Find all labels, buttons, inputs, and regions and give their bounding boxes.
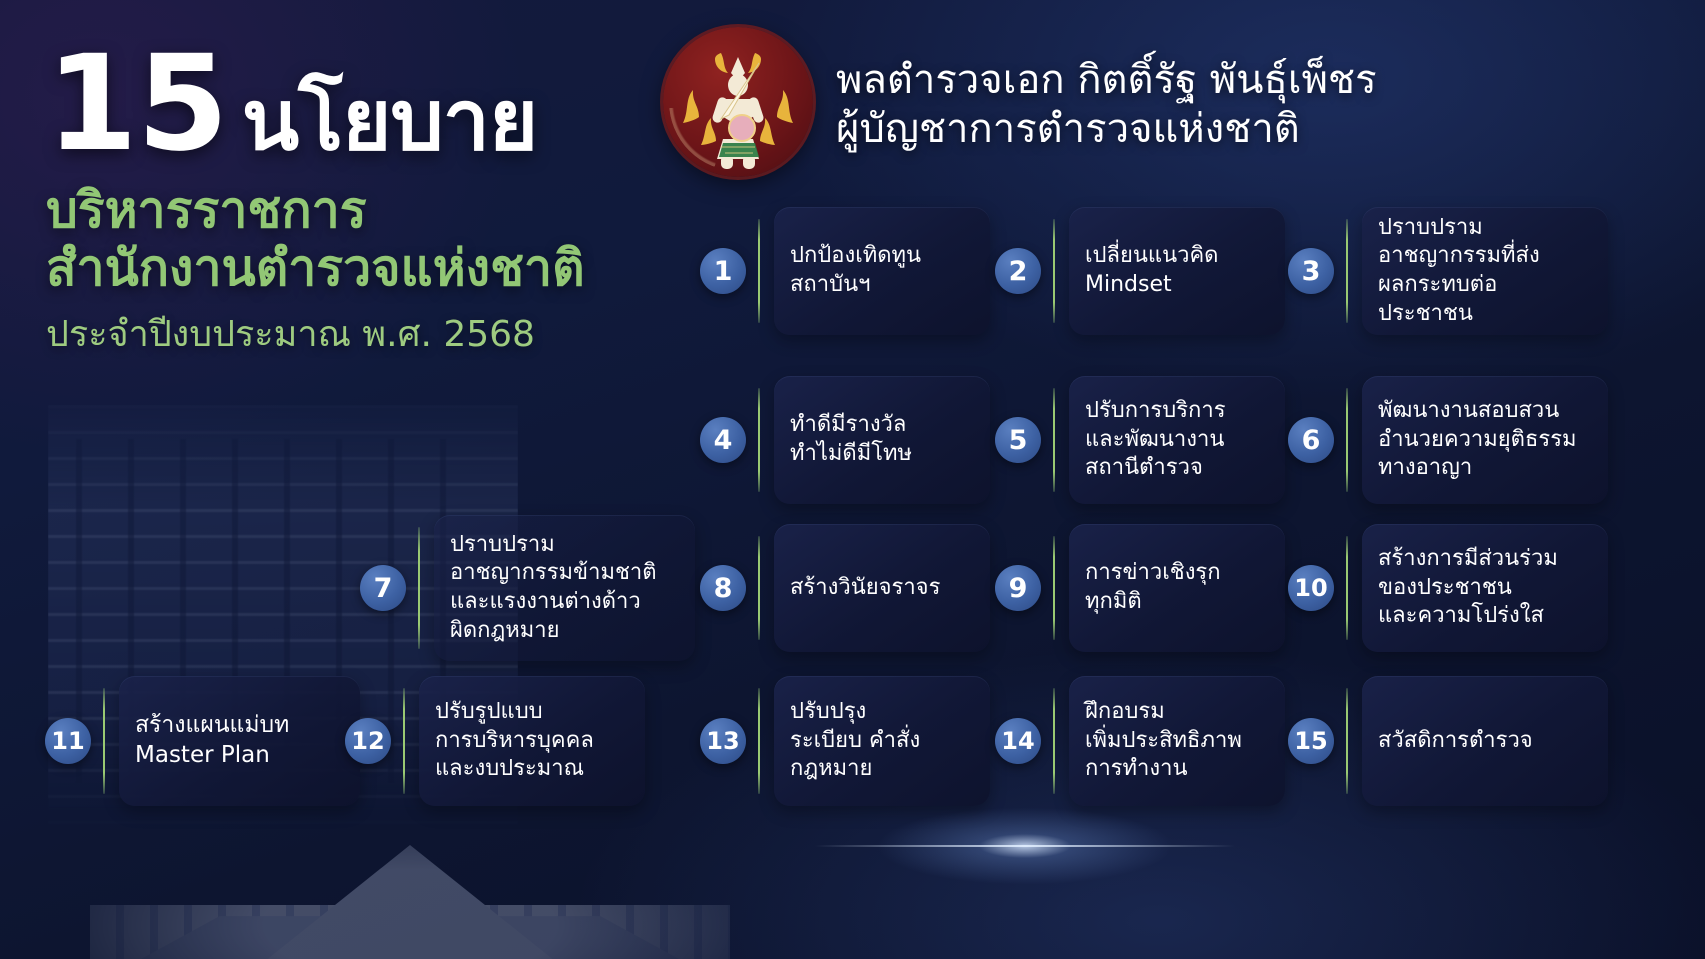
policy-item-7[interactable]: 7 ปราบปรามอาชญากรรมข้ามชาติและแรงงานต่าง…: [360, 527, 695, 649]
policy-number-badge: 9: [995, 565, 1041, 611]
policy-divider: [1053, 536, 1055, 640]
policy-count-word: นโยบาย: [242, 78, 537, 162]
policy-item-3[interactable]: 3 ปราบปรามอาชญากรรมที่ส่งผลกระทบต่อประชา…: [1288, 219, 1608, 323]
policy-card[interactable]: สวัสดิการตำรวจ: [1362, 676, 1608, 806]
policy-number-badge: 15: [1288, 718, 1334, 764]
policy-text: ปกป้องเทิดทูนสถาบันฯ: [790, 242, 921, 299]
policy-count-number: 15: [46, 42, 228, 167]
pavilion-base: [90, 905, 730, 959]
policy-text: สร้างแผนแม่บทMaster Plan: [135, 711, 289, 771]
policy-card[interactable]: ปราบปรามอาชญากรรมที่ส่งผลกระทบต่อประชาชน: [1362, 207, 1608, 335]
policy-item-12[interactable]: 12 ปรับรูปแบบการบริหารบุคคลและงบประมาณ: [345, 688, 645, 794]
policy-text: สวัสดิการตำรวจ: [1378, 727, 1533, 756]
policy-text: พัฒนางานสอบสวนอำนวยความยุติธรรมทางอาญา: [1378, 397, 1577, 483]
policy-divider: [418, 527, 420, 649]
policy-number-badge: 4: [700, 417, 746, 463]
policy-number-badge: 3: [1288, 248, 1334, 294]
headline-main: 15 นโยบาย: [46, 42, 666, 167]
policy-item-9[interactable]: 9 การข่าวเชิงรุกทุกมิติ: [995, 536, 1285, 640]
headline-subtitle-line2: สำนักงานตำรวจแห่งชาติ: [46, 239, 666, 297]
policy-item-15[interactable]: 15 สวัสดิการตำรวจ: [1288, 688, 1608, 794]
policy-divider: [1053, 219, 1055, 323]
policy-divider: [758, 688, 760, 794]
infographic-poster: 15 นโยบาย บริหารราชการ สำนักงานตำรวจแห่ง…: [0, 0, 1705, 959]
policy-text: สร้างการมีส่วนร่วมของประชาชนและความโปร่ง…: [1378, 545, 1558, 631]
policy-card[interactable]: ทำดีมีรางวัลทำไม่ดีมีโทษ: [774, 376, 990, 504]
policy-card[interactable]: ปรับการบริการและพัฒนางานสถานีตำรวจ: [1069, 376, 1285, 504]
lens-flare-glow: [815, 791, 1235, 901]
policy-divider: [103, 688, 105, 794]
officer-name: พลตำรวจเอก กิตติ์รัฐ พันธุ์เพ็ชร: [836, 56, 1556, 105]
policy-card[interactable]: ปรับปรุงระเบียบ คำสั่งกฎหมาย: [774, 676, 990, 806]
policy-number-badge: 8: [700, 565, 746, 611]
policy-number-badge: 6: [1288, 417, 1334, 463]
headline-subtitle-line1: บริหารราชการ: [46, 181, 666, 239]
policy-divider: [758, 219, 760, 323]
officer-title-block: พลตำรวจเอก กิตติ์รัฐ พันธุ์เพ็ชร ผู้บัญช…: [836, 56, 1556, 154]
pavilion-roof: [260, 845, 560, 959]
lens-flare-ray: [815, 845, 1235, 847]
policy-number-badge: 13: [700, 718, 746, 764]
royal-thai-police-seal-icon: [663, 27, 813, 177]
policy-card[interactable]: ฝึกอบรมเพิ่มประสิทธิภาพการทำงาน: [1069, 676, 1285, 806]
policy-number-badge: 12: [345, 718, 391, 764]
seal-rim-text: [669, 33, 807, 171]
policy-item-2[interactable]: 2 เปลี่ยนแนวคิดMindset: [995, 219, 1285, 323]
policy-item-8[interactable]: 8 สร้างวินัยจราจร: [700, 536, 990, 640]
policy-text: การข่าวเชิงรุกทุกมิติ: [1085, 559, 1221, 616]
policy-item-4[interactable]: 4 ทำดีมีรางวัลทำไม่ดีมีโทษ: [700, 388, 990, 492]
policy-text: ทำดีมีรางวัลทำไม่ดีมีโทษ: [790, 411, 912, 468]
policy-number-badge: 2: [995, 248, 1041, 294]
policy-divider: [758, 536, 760, 640]
policy-card[interactable]: ปรับรูปแบบการบริหารบุคคลและงบประมาณ: [419, 676, 645, 806]
policy-divider: [1346, 219, 1348, 323]
policy-number-badge: 7: [360, 565, 406, 611]
policy-divider: [1053, 388, 1055, 492]
policy-text: ปราบปรามอาชญากรรมที่ส่งผลกระทบต่อประชาชน: [1378, 214, 1592, 328]
policy-item-5[interactable]: 5 ปรับการบริการและพัฒนางานสถานีตำรวจ: [995, 388, 1285, 492]
policy-divider: [1346, 388, 1348, 492]
policy-item-14[interactable]: 14 ฝึกอบรมเพิ่มประสิทธิภาพการทำงาน: [995, 688, 1285, 794]
fiscal-year-label: ประจำปีงบประมาณ พ.ศ. 2568: [46, 313, 666, 356]
policy-number-badge: 1: [700, 248, 746, 294]
policy-item-10[interactable]: 10 สร้างการมีส่วนร่วมของประชาชนและความโป…: [1288, 536, 1608, 640]
policy-card[interactable]: สร้างการมีส่วนร่วมของประชาชนและความโปร่ง…: [1362, 524, 1608, 652]
policy-item-1[interactable]: 1 ปกป้องเทิดทูนสถาบันฯ: [700, 219, 990, 323]
officer-position: ผู้บัญชาการตำรวจแห่งชาติ: [836, 105, 1556, 154]
policy-text: ปรับรูปแบบการบริหารบุคคลและงบประมาณ: [435, 698, 594, 784]
policy-text: ปรับปรุงระเบียบ คำสั่งกฎหมาย: [790, 698, 920, 784]
policy-text: ฝึกอบรมเพิ่มประสิทธิภาพการทำงาน: [1085, 698, 1242, 784]
policy-card[interactable]: ปกป้องเทิดทูนสถาบันฯ: [774, 207, 990, 335]
policy-text: ปราบปรามอาชญากรรมข้ามชาติและแรงงานต่างด้…: [450, 531, 657, 645]
policy-card[interactable]: สร้างแผนแม่บทMaster Plan: [119, 676, 360, 806]
policy-text: สร้างวินัยจราจร: [790, 574, 940, 603]
policy-divider: [758, 388, 760, 492]
headline-block: 15 นโยบาย บริหารราชการ สำนักงานตำรวจแห่ง…: [46, 42, 666, 357]
policy-number-badge: 11: [45, 718, 91, 764]
policy-number-badge: 14: [995, 718, 1041, 764]
policy-text: เปลี่ยนแนวคิดMindset: [1085, 242, 1218, 299]
policy-card[interactable]: พัฒนางานสอบสวนอำนวยความยุติธรรมทางอาญา: [1362, 376, 1608, 504]
policy-card[interactable]: การข่าวเชิงรุกทุกมิติ: [1069, 524, 1285, 652]
policy-divider: [1346, 688, 1348, 794]
policy-divider: [1053, 688, 1055, 794]
pavilion-lower-roof: [130, 891, 690, 959]
policy-card[interactable]: สร้างวินัยจราจร: [774, 524, 990, 652]
policy-divider: [403, 688, 405, 794]
policy-number-badge: 5: [995, 417, 1041, 463]
policy-text: ปรับการบริการและพัฒนางานสถานีตำรวจ: [1085, 397, 1226, 483]
policy-divider: [1346, 536, 1348, 640]
policy-card[interactable]: เปลี่ยนแนวคิดMindset: [1069, 207, 1285, 335]
policy-number-badge: 10: [1288, 565, 1334, 611]
policy-item-11[interactable]: 11 สร้างแผนแม่บทMaster Plan: [45, 688, 360, 794]
policy-item-13[interactable]: 13 ปรับปรุงระเบียบ คำสั่งกฎหมาย: [700, 688, 990, 794]
policy-item-6[interactable]: 6 พัฒนางานสอบสวนอำนวยความยุติธรรมทางอาญา: [1288, 388, 1608, 492]
policy-card[interactable]: ปราบปรามอาชญากรรมข้ามชาติและแรงงานต่างด้…: [434, 515, 695, 661]
